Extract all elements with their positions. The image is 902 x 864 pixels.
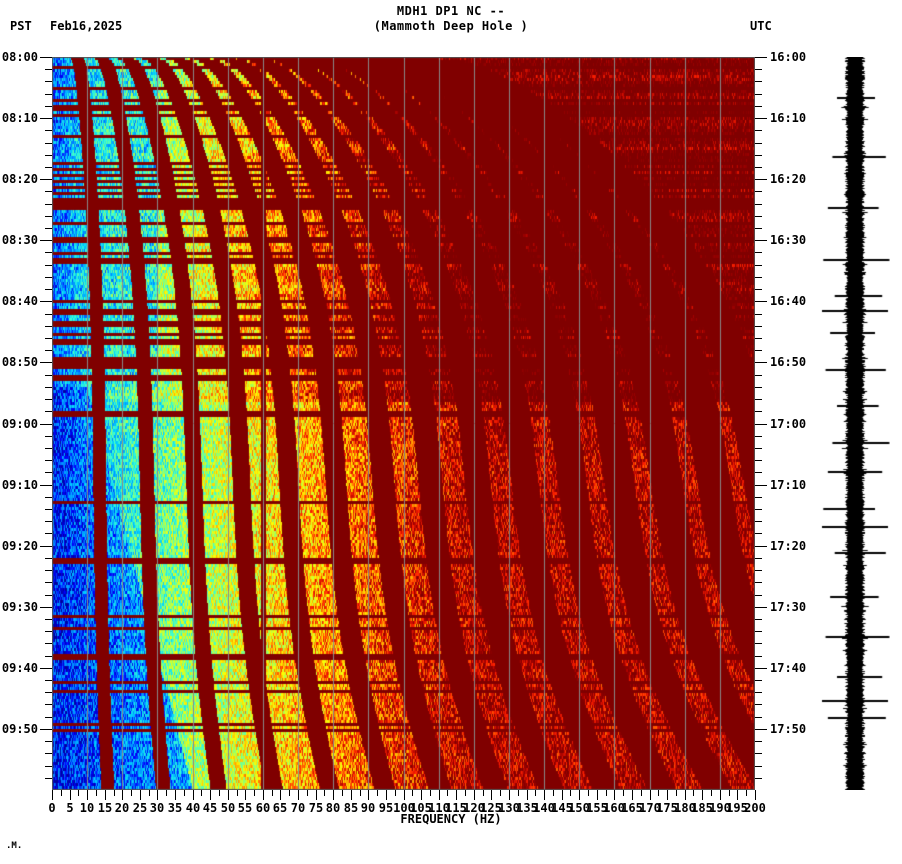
utc-time-tick-minor-tick xyxy=(755,533,762,534)
utc-time-tick-minor-tick xyxy=(755,766,762,767)
pst-time-tick-minor-tick xyxy=(45,69,52,70)
frequency-minor-tick xyxy=(491,790,492,796)
frequency-major-tick xyxy=(52,790,53,800)
pst-time-tick-minor-tick xyxy=(45,717,52,718)
frequency-minor-tick xyxy=(711,790,712,796)
frequency-major-tick xyxy=(439,790,440,800)
frequency-major-tick xyxy=(667,790,668,800)
pst-time-tick-label: 09:50 xyxy=(0,722,38,736)
frequency-minor-tick xyxy=(280,790,281,796)
utc-time-tick-minor-tick xyxy=(755,595,762,596)
frequency-minor-tick xyxy=(421,790,422,796)
frequency-major-tick xyxy=(87,790,88,800)
utc-time-tick-minor-tick xyxy=(755,436,762,437)
pst-time-tick-minor-tick xyxy=(45,753,52,754)
pst-time-tick-minor-tick xyxy=(45,680,52,681)
frequency-minor-tick xyxy=(693,790,694,796)
pst-time-tick-minor-tick xyxy=(45,155,52,156)
pst-time-tick-minor-tick xyxy=(45,375,52,376)
pst-time-tick-minor-tick xyxy=(45,252,52,253)
utc-time-tick-minor-tick xyxy=(755,472,762,473)
pst-time-tick-minor-tick xyxy=(45,314,52,315)
utc-time-tick-label: 17:40 xyxy=(770,661,806,675)
frequency-minor-tick xyxy=(184,790,185,796)
pst-time-tick-minor-tick xyxy=(45,350,52,351)
utc-time-tick-major-tick xyxy=(755,362,767,363)
frequency-major-tick xyxy=(491,790,492,800)
record-date: Feb16,2025 xyxy=(50,19,122,33)
frequency-major-tick xyxy=(210,790,211,800)
frequency-major-tick xyxy=(456,790,457,800)
frequency-minor-tick xyxy=(658,790,659,796)
frequency-major-tick xyxy=(544,790,545,800)
frequency-major-tick xyxy=(562,790,563,800)
frequency-minor-tick xyxy=(157,790,158,796)
frequency-minor-tick xyxy=(667,790,668,796)
frequency-minor-tick xyxy=(175,790,176,796)
frequency-minor-tick xyxy=(377,790,378,796)
frequency-minor-tick xyxy=(307,790,308,796)
utc-time-tick-minor-tick xyxy=(755,69,762,70)
pst-time-tick-label: 09:00 xyxy=(0,417,38,431)
frequency-major-tick xyxy=(509,790,510,800)
frequency-major-tick xyxy=(140,790,141,800)
frequency-major-tick xyxy=(685,790,686,800)
utc-time-tick-minor-tick xyxy=(755,558,762,559)
utc-time-tick-major-tick xyxy=(755,179,767,180)
pst-time-tick-minor-tick xyxy=(45,643,52,644)
frequency-minor-tick xyxy=(96,790,97,796)
utc-time-tick-label: 16:30 xyxy=(770,233,806,247)
utc-time-tick-minor-tick xyxy=(755,252,762,253)
frequency-minor-tick xyxy=(210,790,211,796)
frequency-major-tick xyxy=(105,790,106,800)
frequency-minor-tick xyxy=(535,790,536,796)
utc-time-tick-minor-tick xyxy=(755,216,762,217)
frequency-minor-tick xyxy=(219,790,220,796)
pst-time-tick-minor-tick xyxy=(45,595,52,596)
pst-time-tick-minor-tick xyxy=(45,106,52,107)
utc-time-tick-minor-tick xyxy=(755,130,762,131)
frequency-minor-tick xyxy=(746,790,747,796)
frequency-minor-tick xyxy=(316,790,317,796)
utc-time-tick-minor-tick xyxy=(755,155,762,156)
pst-time-tick-minor-tick xyxy=(45,582,52,583)
pst-time-tick-minor-tick xyxy=(45,619,52,620)
frequency-minor-tick xyxy=(755,790,756,796)
pst-time-tick-major-tick xyxy=(40,729,52,730)
frequency-minor-tick xyxy=(404,790,405,796)
utc-time-tick-minor-tick xyxy=(755,265,762,266)
utc-time-tick-major-tick xyxy=(755,729,767,730)
pst-time-tick-minor-tick xyxy=(45,338,52,339)
frequency-major-tick xyxy=(316,790,317,800)
pst-time-tick-minor-tick xyxy=(45,130,52,131)
frequency-minor-tick xyxy=(61,790,62,796)
pst-time-tick-minor-tick xyxy=(45,753,52,754)
frequency-minor-tick xyxy=(702,790,703,796)
frequency-minor-tick xyxy=(254,790,255,796)
frequency-major-tick xyxy=(720,790,721,800)
pst-time-tick-minor-tick xyxy=(45,472,52,473)
pst-time-tick-minor-tick xyxy=(45,631,52,632)
utc-time-tick-minor-tick xyxy=(755,778,762,779)
spectrogram-plot[interactable] xyxy=(52,57,755,790)
frequency-major-tick xyxy=(614,790,615,800)
pst-time-tick-label: 08:00 xyxy=(0,50,38,64)
frequency-minor-tick xyxy=(509,790,510,796)
utc-time-tick-minor-tick xyxy=(755,350,762,351)
frequency-minor-tick xyxy=(87,790,88,796)
pst-time-tick-label: 09:40 xyxy=(0,661,38,675)
utc-time-tick-minor-tick xyxy=(755,143,762,144)
utc-time-tick-minor-tick xyxy=(755,289,762,290)
timezone-label-right: UTC xyxy=(750,19,772,33)
pst-time-tick-major-tick xyxy=(40,485,52,486)
pst-time-tick-minor-tick xyxy=(45,411,52,412)
pst-time-tick-major-tick xyxy=(40,424,52,425)
frequency-minor-tick xyxy=(324,790,325,796)
pst-time-tick-minor-tick xyxy=(45,448,52,449)
seismogram-trace[interactable] xyxy=(820,57,890,790)
frequency-major-tick xyxy=(351,790,352,800)
pst-time-tick-label: 08:40 xyxy=(0,294,38,308)
spectrogram-canvas[interactable] xyxy=(52,57,755,790)
utc-time-tick-minor-tick xyxy=(755,692,762,693)
pst-time-tick-minor-tick xyxy=(45,191,52,192)
pst-time-tick-minor-tick xyxy=(45,216,52,217)
utc-time-tick-minor-tick xyxy=(755,277,762,278)
pst-time-tick-minor-tick xyxy=(45,277,52,278)
frequency-minor-tick xyxy=(333,790,334,796)
utc-time-tick-minor-tick xyxy=(755,753,762,754)
pst-time-tick-major-tick xyxy=(40,301,52,302)
frequency-minor-tick xyxy=(351,790,352,796)
utc-time-tick-minor-tick xyxy=(755,680,762,681)
utc-time-tick-minor-tick xyxy=(755,753,762,754)
frequency-minor-tick xyxy=(131,790,132,796)
pst-time-tick-minor-tick xyxy=(45,81,52,82)
utc-time-tick-label: 17:00 xyxy=(770,417,806,431)
frequency-minor-tick xyxy=(650,790,651,796)
pst-time-tick-label: 08:30 xyxy=(0,233,38,247)
frequency-major-tick xyxy=(421,790,422,800)
frequency-minor-tick xyxy=(685,790,686,796)
utc-time-tick-label: 17:30 xyxy=(770,600,806,614)
pst-time-tick-major-tick xyxy=(40,118,52,119)
frequency-minor-tick xyxy=(474,790,475,796)
utc-time-tick-major-tick xyxy=(755,240,767,241)
utc-time-tick-minor-tick xyxy=(755,656,762,657)
utc-time-tick-minor-tick xyxy=(755,228,762,229)
pst-time-tick-minor-tick xyxy=(45,289,52,290)
frequency-minor-tick xyxy=(465,790,466,796)
utc-time-tick-minor-tick xyxy=(755,204,762,205)
frequency-minor-tick xyxy=(298,790,299,796)
frequency-minor-tick xyxy=(500,790,501,796)
utc-time-tick-major-tick xyxy=(755,301,767,302)
frequency-minor-tick xyxy=(553,790,554,796)
pst-time-tick-minor-tick xyxy=(45,228,52,229)
frequency-axis-label: FREQUENCY (HZ) xyxy=(0,812,902,826)
frequency-minor-tick xyxy=(597,790,598,796)
frequency-minor-tick xyxy=(166,790,167,796)
frequency-minor-tick xyxy=(527,790,528,796)
frequency-minor-tick xyxy=(149,790,150,796)
utc-time-tick-major-tick xyxy=(755,607,767,608)
pst-time-tick-minor-tick xyxy=(45,692,52,693)
frequency-major-tick xyxy=(70,790,71,800)
frequency-major-tick xyxy=(298,790,299,800)
utc-time-tick-minor-tick xyxy=(755,741,762,742)
pst-time-tick-minor-tick xyxy=(45,570,52,571)
frequency-major-tick xyxy=(280,790,281,800)
frequency-minor-tick xyxy=(360,790,361,796)
frequency-major-tick xyxy=(597,790,598,800)
utc-time-tick-minor-tick xyxy=(755,191,762,192)
frequency-minor-tick xyxy=(430,790,431,796)
frequency-minor-tick xyxy=(570,790,571,796)
pst-time-tick-minor-tick xyxy=(45,509,52,510)
utc-time-tick-minor-tick xyxy=(755,521,762,522)
frequency-minor-tick xyxy=(263,790,264,796)
pst-time-tick-minor-tick xyxy=(45,387,52,388)
frequency-major-tick xyxy=(527,790,528,800)
utc-time-tick-major-tick xyxy=(755,57,767,58)
frequency-minor-tick xyxy=(201,790,202,796)
pst-time-tick-major-tick xyxy=(40,240,52,241)
frequency-major-tick xyxy=(193,790,194,800)
frequency-minor-tick xyxy=(228,790,229,796)
frequency-major-tick xyxy=(263,790,264,800)
utc-time-tick-label: 16:20 xyxy=(770,172,806,186)
seismogram-canvas[interactable] xyxy=(820,57,890,790)
pst-time-tick-major-tick xyxy=(40,179,52,180)
timezone-label-left: PST xyxy=(10,19,32,33)
frequency-major-tick xyxy=(386,790,387,800)
frequency-minor-tick xyxy=(588,790,589,796)
utc-time-tick-minor-tick xyxy=(755,94,762,95)
pst-time-tick-minor-tick xyxy=(45,656,52,657)
utc-time-tick-label: 17:50 xyxy=(770,722,806,736)
utc-time-tick-minor-tick xyxy=(755,497,762,498)
pst-time-tick-minor-tick xyxy=(45,143,52,144)
frequency-minor-tick xyxy=(78,790,79,796)
pst-time-tick-minor-tick xyxy=(45,460,52,461)
utc-time-tick-minor-tick xyxy=(755,582,762,583)
utc-time-tick-minor-tick xyxy=(755,460,762,461)
pst-time-tick-minor-tick xyxy=(45,497,52,498)
page-title: MDH1 DP1 NC -- xyxy=(0,4,902,18)
frequency-minor-tick xyxy=(193,790,194,796)
frequency-major-tick xyxy=(157,790,158,800)
frequency-major-tick xyxy=(737,790,738,800)
frequency-minor-tick xyxy=(439,790,440,796)
pst-time-tick-minor-tick xyxy=(45,766,52,767)
utc-time-tick-minor-tick xyxy=(755,81,762,82)
utc-time-tick-minor-tick xyxy=(755,411,762,412)
frequency-minor-tick xyxy=(447,790,448,796)
pst-time-tick-label: 08:10 xyxy=(0,111,38,125)
frequency-major-tick xyxy=(333,790,334,800)
frequency-minor-tick xyxy=(412,790,413,796)
frequency-minor-tick xyxy=(245,790,246,796)
pst-time-tick-minor-tick xyxy=(45,741,52,742)
utc-time-tick-label: 16:50 xyxy=(770,355,806,369)
frequency-minor-tick xyxy=(562,790,563,796)
frequency-minor-tick xyxy=(518,790,519,796)
utc-time-tick-label: 17:10 xyxy=(770,478,806,492)
frequency-minor-tick xyxy=(720,790,721,796)
pst-time-tick-minor-tick xyxy=(45,399,52,400)
utc-time-tick-minor-tick xyxy=(755,619,762,620)
frequency-minor-tick xyxy=(623,790,624,796)
utc-time-tick-major-tick xyxy=(755,424,767,425)
utc-time-tick-minor-tick xyxy=(755,570,762,571)
utc-time-tick-minor-tick xyxy=(755,326,762,327)
frequency-minor-tick xyxy=(289,790,290,796)
pst-time-tick-label: 08:50 xyxy=(0,355,38,369)
utc-time-tick-minor-tick xyxy=(755,399,762,400)
frequency-minor-tick xyxy=(729,790,730,796)
frequency-major-tick xyxy=(755,790,756,800)
frequency-minor-tick xyxy=(386,790,387,796)
frequency-minor-tick xyxy=(632,790,633,796)
pst-time-tick-major-tick xyxy=(40,546,52,547)
utc-time-tick-minor-tick xyxy=(755,766,762,767)
frequency-minor-tick xyxy=(676,790,677,796)
utc-time-tick-minor-tick xyxy=(755,338,762,339)
pst-time-tick-label: 09:20 xyxy=(0,539,38,553)
frequency-major-tick xyxy=(632,790,633,800)
frequency-minor-tick xyxy=(342,790,343,796)
utc-time-tick-major-tick xyxy=(755,546,767,547)
utc-time-tick-major-tick xyxy=(755,668,767,669)
utc-time-tick-minor-tick xyxy=(755,448,762,449)
frequency-major-tick xyxy=(228,790,229,800)
frequency-major-tick xyxy=(368,790,369,800)
utc-time-tick-minor-tick xyxy=(755,717,762,718)
frequency-minor-tick xyxy=(272,790,273,796)
utc-time-tick-label: 16:10 xyxy=(770,111,806,125)
pst-time-tick-minor-tick xyxy=(45,265,52,266)
utc-time-tick-minor-tick xyxy=(755,106,762,107)
frequency-minor-tick xyxy=(122,790,123,796)
frequency-minor-tick xyxy=(52,790,53,796)
pst-time-tick-label: 09:10 xyxy=(0,478,38,492)
frequency-minor-tick xyxy=(395,790,396,796)
frequency-minor-tick xyxy=(483,790,484,796)
pst-time-tick-label: 08:20 xyxy=(0,172,38,186)
frequency-minor-tick xyxy=(237,790,238,796)
pst-time-tick-minor-tick xyxy=(45,778,52,779)
corner-artifact-mark: .M. xyxy=(6,841,22,851)
frequency-minor-tick xyxy=(544,790,545,796)
pst-time-tick-major-tick xyxy=(40,607,52,608)
utc-time-tick-minor-tick xyxy=(755,741,762,742)
frequency-minor-tick xyxy=(579,790,580,796)
pst-time-tick-minor-tick xyxy=(45,167,52,168)
pst-time-tick-minor-tick xyxy=(45,204,52,205)
utc-time-tick-label: 17:20 xyxy=(770,539,806,553)
frequency-major-tick xyxy=(579,790,580,800)
frequency-major-tick xyxy=(404,790,405,800)
frequency-major-tick xyxy=(702,790,703,800)
utc-time-tick-minor-tick xyxy=(755,631,762,632)
frequency-minor-tick xyxy=(456,790,457,796)
frequency-minor-tick xyxy=(606,790,607,796)
frequency-minor-tick xyxy=(737,790,738,796)
pst-time-tick-minor-tick xyxy=(45,766,52,767)
frequency-major-tick xyxy=(474,790,475,800)
utc-time-tick-minor-tick xyxy=(755,375,762,376)
utc-time-tick-major-tick xyxy=(755,118,767,119)
utc-time-tick-minor-tick xyxy=(755,778,762,779)
frequency-minor-tick xyxy=(368,790,369,796)
pst-time-tick-minor-tick xyxy=(45,94,52,95)
frequency-major-tick xyxy=(175,790,176,800)
pst-time-tick-minor-tick xyxy=(45,436,52,437)
utc-time-tick-minor-tick xyxy=(755,387,762,388)
pst-time-tick-major-tick xyxy=(40,362,52,363)
pst-time-tick-minor-tick xyxy=(45,558,52,559)
frequency-minor-tick xyxy=(614,790,615,796)
frequency-major-tick xyxy=(650,790,651,800)
utc-time-tick-major-tick xyxy=(755,485,767,486)
frequency-minor-tick xyxy=(140,790,141,796)
pst-time-tick-minor-tick xyxy=(45,741,52,742)
frequency-minor-tick xyxy=(641,790,642,796)
utc-time-tick-minor-tick xyxy=(755,314,762,315)
pst-time-tick-minor-tick xyxy=(45,326,52,327)
pst-time-tick-label: 09:30 xyxy=(0,600,38,614)
pst-time-tick-major-tick xyxy=(40,57,52,58)
pst-time-tick-major-tick xyxy=(40,668,52,669)
pst-time-tick-minor-tick xyxy=(45,533,52,534)
utc-time-tick-minor-tick xyxy=(755,167,762,168)
utc-time-tick-minor-tick xyxy=(755,643,762,644)
frequency-minor-tick xyxy=(105,790,106,796)
frequency-major-tick xyxy=(122,790,123,800)
pst-time-tick-minor-tick xyxy=(45,521,52,522)
pst-time-tick-minor-tick xyxy=(45,778,52,779)
pst-time-tick-minor-tick xyxy=(45,704,52,705)
utc-time-tick-minor-tick xyxy=(755,509,762,510)
frequency-minor-tick xyxy=(70,790,71,796)
frequency-major-tick xyxy=(245,790,246,800)
utc-time-tick-minor-tick xyxy=(755,704,762,705)
utc-time-tick-label: 16:40 xyxy=(770,294,806,308)
utc-time-tick-label: 16:00 xyxy=(770,50,806,64)
frequency-minor-tick xyxy=(114,790,115,796)
